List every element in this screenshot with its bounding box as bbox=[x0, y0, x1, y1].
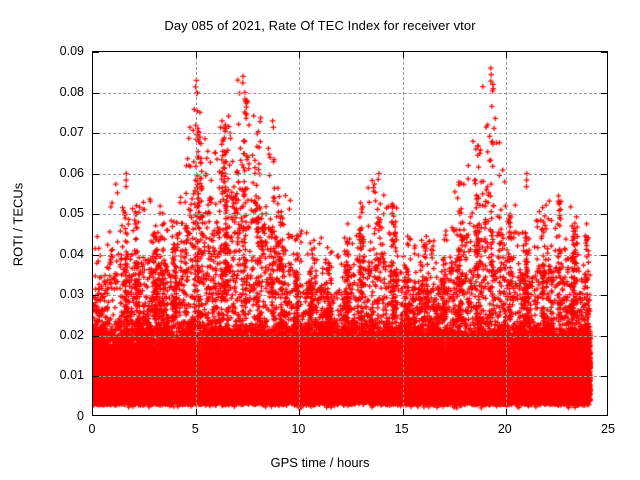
gridline-vertical bbox=[196, 52, 197, 415]
y-axis-tick bbox=[93, 214, 99, 215]
x-tick-label: 20 bbox=[475, 422, 535, 436]
x-axis-tick bbox=[403, 409, 404, 415]
gridline-horizontal bbox=[93, 93, 607, 94]
gridline-horizontal bbox=[93, 336, 607, 337]
y-tick-label: 0.07 bbox=[14, 125, 84, 139]
y-tick-label: 0 bbox=[14, 409, 84, 423]
gridline-vertical bbox=[299, 52, 300, 415]
x-axis-tick-top bbox=[196, 52, 197, 58]
y-axis-tick bbox=[93, 376, 99, 377]
y-tick-label: 0.01 bbox=[14, 368, 84, 382]
x-tick-label: 25 bbox=[578, 422, 638, 436]
y-axis-tick bbox=[93, 174, 99, 175]
gridline-horizontal bbox=[93, 174, 607, 175]
gridline-horizontal bbox=[93, 133, 607, 134]
y-axis-tick bbox=[93, 52, 99, 53]
x-tick-label: 15 bbox=[372, 422, 432, 436]
y-axis-tick-right bbox=[601, 214, 607, 215]
x-axis-tick-top bbox=[506, 52, 507, 58]
chart-title: Day 085 of 2021, Rate Of TEC Index for r… bbox=[0, 18, 640, 33]
x-tick-label: 10 bbox=[268, 422, 328, 436]
y-axis-tick bbox=[93, 336, 99, 337]
x-axis-tick bbox=[506, 409, 507, 415]
gridline-horizontal bbox=[93, 376, 607, 377]
chart-window: Day 085 of 2021, Rate Of TEC Index for r… bbox=[0, 0, 640, 480]
y-axis-tick bbox=[93, 93, 99, 94]
plot-area bbox=[92, 51, 608, 416]
x-axis-tick bbox=[196, 409, 197, 415]
y-axis-tick-right bbox=[601, 52, 607, 53]
y-axis-tick-right bbox=[601, 255, 607, 256]
x-axis-label: GPS time / hours bbox=[0, 455, 640, 470]
y-axis-tick-right bbox=[601, 93, 607, 94]
y-axis-tick-right bbox=[601, 336, 607, 337]
y-tick-label: 0.02 bbox=[14, 328, 84, 342]
gridline-vertical bbox=[403, 52, 404, 415]
x-tick-label: 0 bbox=[62, 422, 122, 436]
gridline-horizontal bbox=[93, 214, 607, 215]
x-axis-tick-top bbox=[299, 52, 300, 58]
x-axis-tick-top bbox=[403, 52, 404, 58]
y-axis-tick-right bbox=[601, 295, 607, 296]
y-axis-label: ROTI / TECUs bbox=[11, 145, 26, 305]
gridline-horizontal bbox=[93, 255, 607, 256]
y-axis-tick-right bbox=[601, 376, 607, 377]
gridline-vertical bbox=[506, 52, 507, 415]
x-axis-tick bbox=[299, 409, 300, 415]
y-axis-tick bbox=[93, 133, 99, 134]
y-axis-tick bbox=[93, 295, 99, 296]
gridline-horizontal bbox=[93, 295, 607, 296]
x-axis-tick-labels: 0510152025 bbox=[92, 422, 608, 444]
y-tick-label: 0.09 bbox=[14, 44, 84, 58]
scatter-plot-canvas bbox=[93, 52, 608, 416]
y-tick-label: 0.08 bbox=[14, 85, 84, 99]
y-axis-tick bbox=[93, 255, 99, 256]
y-axis-tick-right bbox=[601, 133, 607, 134]
x-tick-label: 5 bbox=[165, 422, 225, 436]
y-axis-tick-right bbox=[601, 174, 607, 175]
